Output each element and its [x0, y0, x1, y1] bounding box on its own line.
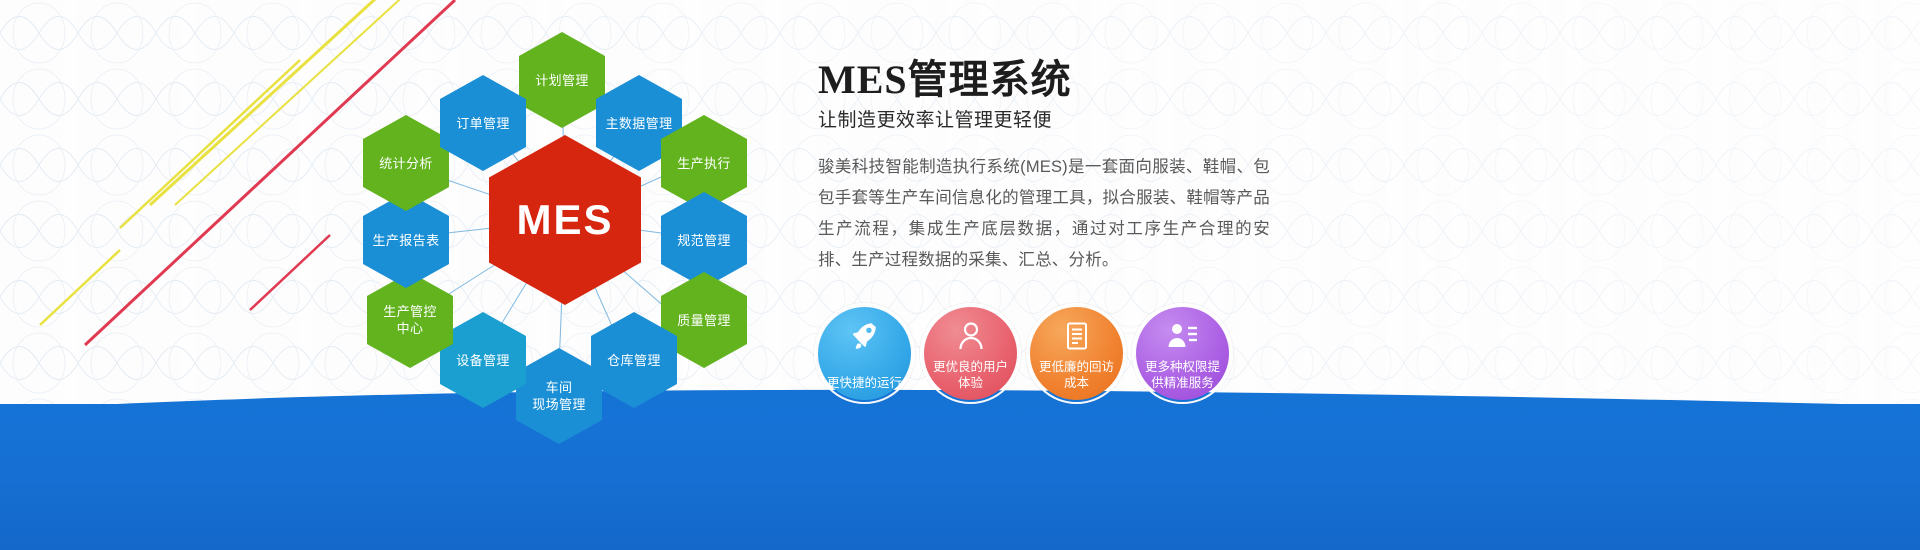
- hex-node-label: 生产报告表: [372, 232, 439, 249]
- page-title: MES管理系统: [818, 56, 1288, 104]
- banner-description: 骏美科技智能制造执行系统(MES)是一套面向服装、鞋帽、包包手套等生产车间信息化…: [818, 152, 1270, 276]
- badge-label: 更快捷的运行: [823, 375, 907, 391]
- feature-badge-row: 更快捷的运行 更优良的用户体验 更低廉的回访成本: [818, 307, 1229, 400]
- badge-label: 更低廉的回访成本: [1035, 359, 1119, 391]
- hex-node-label: 仓库管理: [607, 352, 661, 369]
- hex-node-label: 车间 现场管理: [532, 379, 586, 413]
- hex-node-label: 订单管理: [456, 115, 510, 132]
- hex-node-label: 生产管控 中心: [383, 303, 437, 337]
- page-subtitle: 让制造更效率让管理更轻便: [818, 106, 1288, 136]
- banner-copy: MES管理系统 让制造更效率让管理更轻便 骏美科技智能制造执行系统(MES)是一…: [818, 56, 1288, 276]
- hex-node-label: 规范管理: [677, 232, 731, 249]
- hex-node-label: 设备管理: [456, 352, 510, 369]
- hex-node-label: 计划管理: [535, 72, 589, 89]
- hex-node-label: 生产执行: [677, 155, 731, 172]
- rocket-icon: [849, 320, 881, 352]
- hex-node-label: 主数据管理: [605, 115, 672, 132]
- feature-badge-fast-run[interactable]: 更快捷的运行: [818, 307, 911, 400]
- user-list-icon: [1167, 320, 1199, 352]
- document-icon: [1061, 320, 1093, 352]
- feature-badge-low-cost[interactable]: 更低廉的回访成本: [1030, 307, 1123, 400]
- badge-label: 更优良的用户体验: [929, 359, 1013, 391]
- mes-hex-diagram: MES 计划管理 主数据管理 生产执行 规范管理 质量管理 仓库管理 车间 现场…: [330, 10, 800, 430]
- hex-node-label: 统计分析: [379, 155, 433, 172]
- user-icon: [955, 320, 987, 352]
- feature-badge-permissions[interactable]: 更多种权限提供精准服务: [1136, 307, 1229, 400]
- mes-banner: MES 计划管理 主数据管理 生产执行 规范管理 质量管理 仓库管理 车间 现场…: [0, 0, 1920, 550]
- hex-node-label: 质量管理: [677, 312, 731, 329]
- bottom-blue-band: [0, 404, 1920, 550]
- badge-label: 更多种权限提供精准服务: [1141, 359, 1225, 391]
- feature-badge-user-experience[interactable]: 更优良的用户体验: [924, 307, 1017, 400]
- hex-center-label: MES: [516, 196, 613, 244]
